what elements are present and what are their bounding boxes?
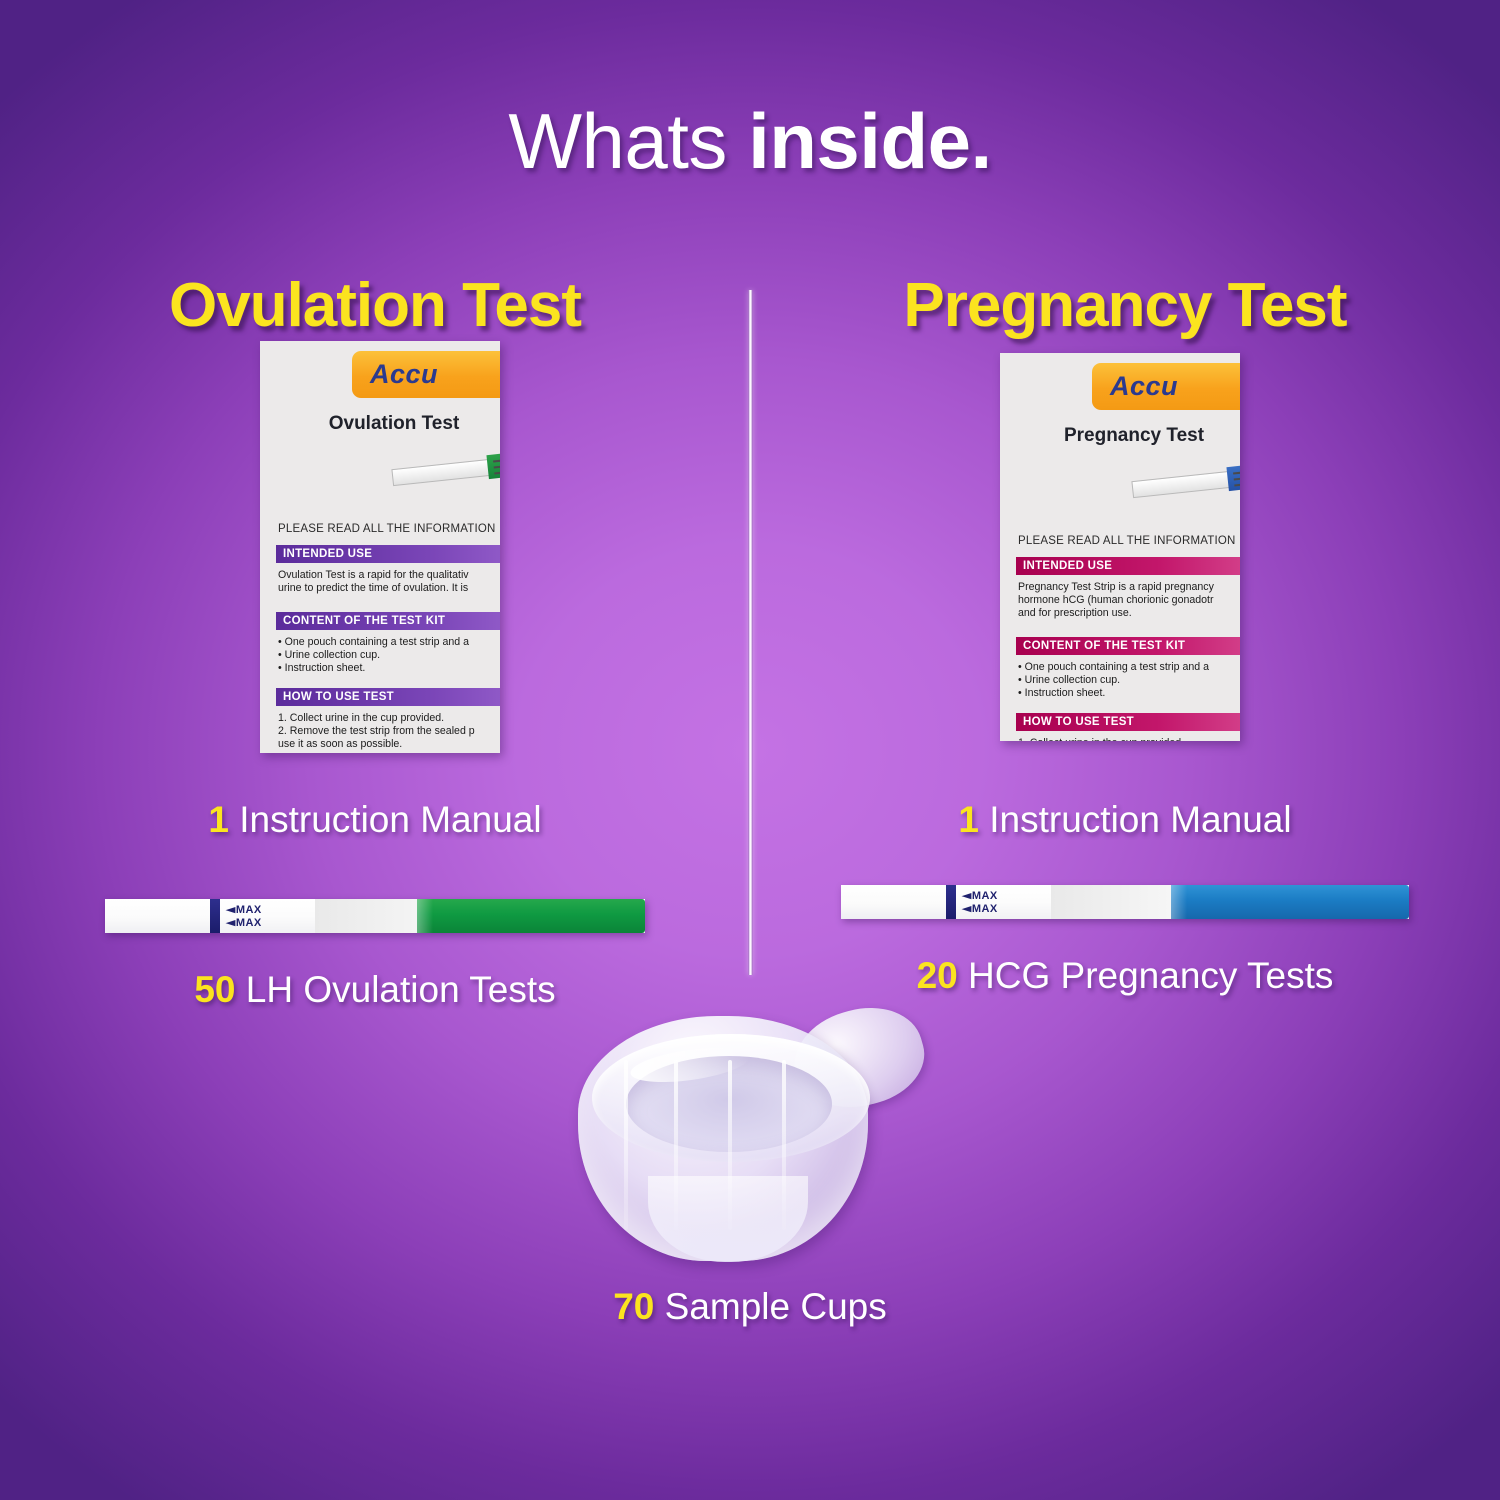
arrow-left-icon: ◂ xyxy=(226,903,235,916)
test-strip-pregnancy: ◂MAX ◂MAX xyxy=(841,885,1409,919)
instruction-manual-pregnancy: Accu Pregnancy Test PLEASE READ ALL THE … xyxy=(1000,353,1240,741)
section-line: use it as soon as possible. xyxy=(278,738,500,751)
sample-cup-area: 70 Sample Cups xyxy=(0,1000,1500,1328)
strip-max-marker-bottom: ◂MAX xyxy=(228,916,262,929)
section-line: • One pouch containing a test strip and … xyxy=(1018,661,1240,674)
section-header-content-kit: CONTENT OF THE TEST KIT xyxy=(276,612,500,630)
manual-test-strip-illustration xyxy=(391,453,500,491)
section-body-content-kit: • One pouch containing a test strip and … xyxy=(278,636,500,676)
section-line: Pregnancy Test Strip is a rapid pregnanc… xyxy=(1018,581,1240,594)
test-strip-ovulation: ◂MAX ◂MAX xyxy=(105,899,645,933)
sample-cup-image xyxy=(570,1000,930,1270)
caption-number: 70 xyxy=(613,1286,654,1327)
section-body-intended-use: Pregnancy Test Strip is a rapid pregnanc… xyxy=(1018,581,1240,621)
cup-bowl xyxy=(578,1016,868,1261)
caption-text: Instruction Manual xyxy=(979,799,1292,840)
section-line: • Instruction sheet. xyxy=(1018,687,1240,700)
section-header-content-kit: CONTENT OF THE TEST KIT xyxy=(1016,637,1240,655)
section-title-ovulation: Ovulation Test xyxy=(55,270,695,341)
strip-absorbent-pad xyxy=(841,885,946,919)
arrow-left-icon: ◂ xyxy=(226,916,235,929)
please-read-notice-ovulation: PLEASE READ ALL THE INFORMATION xyxy=(278,523,496,535)
caption-strip-pregnancy: 20 HCG Pregnancy Tests xyxy=(805,955,1445,997)
strip-handle xyxy=(417,899,645,933)
caption-sample-cups: 70 Sample Cups xyxy=(0,1286,1500,1328)
section-line: urine to predict the time of ovulation. … xyxy=(278,582,500,595)
section-line: hormone hCG (human chorionic gonadotr xyxy=(1018,594,1240,607)
section-line: • Urine collection cup. xyxy=(278,649,500,662)
strip-max-marker-top: ◂MAX xyxy=(964,889,998,902)
mini-strip-tick xyxy=(1234,483,1240,486)
section-body-how-to-use: 1. Collect urine in the cup provided. 2.… xyxy=(278,712,500,753)
brand-banner-pregnancy: Accu xyxy=(1092,363,1240,410)
section-line: Ovulation Test is a rapid for the qualit… xyxy=(278,569,500,582)
section-line: 2. Remove the test strip from the sealed… xyxy=(278,725,500,738)
section-header-how-to-use: HOW TO USE TEST xyxy=(1016,713,1240,731)
page-title-light: Whats xyxy=(508,97,727,185)
strip-grey-zone xyxy=(1051,885,1181,919)
section-line: 3. Immerse the strip into the uruine wit… xyxy=(278,752,500,753)
mini-strip-tick xyxy=(494,471,500,474)
caption-text: Instruction Manual xyxy=(229,799,542,840)
mini-strip-body xyxy=(391,458,498,486)
section-line: and for prescription use. xyxy=(1018,607,1240,620)
manual-heading-ovulation: Ovulation Test xyxy=(260,413,500,435)
section-line: • Urine collection cup. xyxy=(1018,674,1240,687)
strip-blue-band xyxy=(210,899,220,933)
infographic-page: Whats inside. Ovulation Test Accu Ovulat… xyxy=(0,0,1500,1500)
strip-max-label: MAX xyxy=(236,917,262,929)
section-title-pregnancy: Pregnancy Test xyxy=(805,270,1445,341)
column-ovulation: Ovulation Test Accu Ovulation Test PLEAS… xyxy=(55,270,695,1011)
manual-wrap-pregnancy: Accu Pregnancy Test PLEASE READ ALL THE … xyxy=(805,341,1445,761)
manual-heading-pregnancy: Pregnancy Test xyxy=(1000,425,1240,447)
arrow-left-icon: ◂ xyxy=(962,902,971,915)
section-body-intended-use: Ovulation Test is a rapid for the qualit… xyxy=(278,569,500,595)
page-title: Whats inside. xyxy=(0,96,1500,187)
caption-text: HCG Pregnancy Tests xyxy=(958,955,1334,996)
cup-rib xyxy=(624,1060,628,1230)
caption-number: 1 xyxy=(958,799,979,840)
strip-max-label: MAX xyxy=(972,903,998,915)
page-title-bold: inside. xyxy=(748,97,992,185)
section-header-intended-use: INTENDED USE xyxy=(276,545,500,563)
section-line: • Instruction sheet. xyxy=(278,662,500,675)
section-header-intended-use: INTENDED USE xyxy=(1016,557,1240,575)
caption-manual-pregnancy: 1 Instruction Manual xyxy=(805,799,1445,841)
strip-handle xyxy=(1171,885,1409,919)
section-line: 1. Collect urine in the cup provided. xyxy=(1018,737,1240,741)
strip-absorbent-pad xyxy=(105,899,210,933)
column-pregnancy: Pregnancy Test Accu Pregnancy Test PLEAS… xyxy=(805,270,1445,997)
manual-wrap-ovulation: Accu Ovulation Test PLEASE READ ALL THE … xyxy=(55,341,695,761)
arrow-left-icon: ◂ xyxy=(962,889,971,902)
section-line: 1. Collect urine in the cup provided. xyxy=(278,712,500,725)
mini-strip-body xyxy=(1131,470,1238,498)
caption-manual-ovulation: 1 Instruction Manual xyxy=(55,799,695,841)
column-divider xyxy=(748,290,753,975)
cup-base xyxy=(648,1176,808,1262)
manual-test-strip-illustration xyxy=(1131,465,1240,503)
brand-logo-text: Accu xyxy=(1110,371,1178,402)
brand-banner-ovulation: Accu xyxy=(352,351,500,398)
section-body-how-to-use: 1. Collect urine in the cup provided. 2.… xyxy=(1018,737,1240,741)
caption-number: 1 xyxy=(208,799,229,840)
strip-blue-band xyxy=(946,885,956,919)
section-body-content-kit: • One pouch containing a test strip and … xyxy=(1018,661,1240,701)
instruction-manual-ovulation: Accu Ovulation Test PLEASE READ ALL THE … xyxy=(260,341,500,753)
please-read-notice-pregnancy: PLEASE READ ALL THE INFORMATION xyxy=(1018,535,1236,547)
strip-max-marker-bottom: ◂MAX xyxy=(964,902,998,915)
section-line: • One pouch containing a test strip and … xyxy=(278,636,500,649)
caption-number: 20 xyxy=(917,955,958,996)
strip-max-label: MAX xyxy=(236,904,262,916)
section-header-how-to-use: HOW TO USE TEST xyxy=(276,688,500,706)
strip-max-label: MAX xyxy=(972,890,998,902)
brand-logo-text: Accu xyxy=(370,359,438,390)
strip-max-marker-top: ◂MAX xyxy=(228,903,262,916)
caption-text: Sample Cups xyxy=(654,1286,886,1327)
